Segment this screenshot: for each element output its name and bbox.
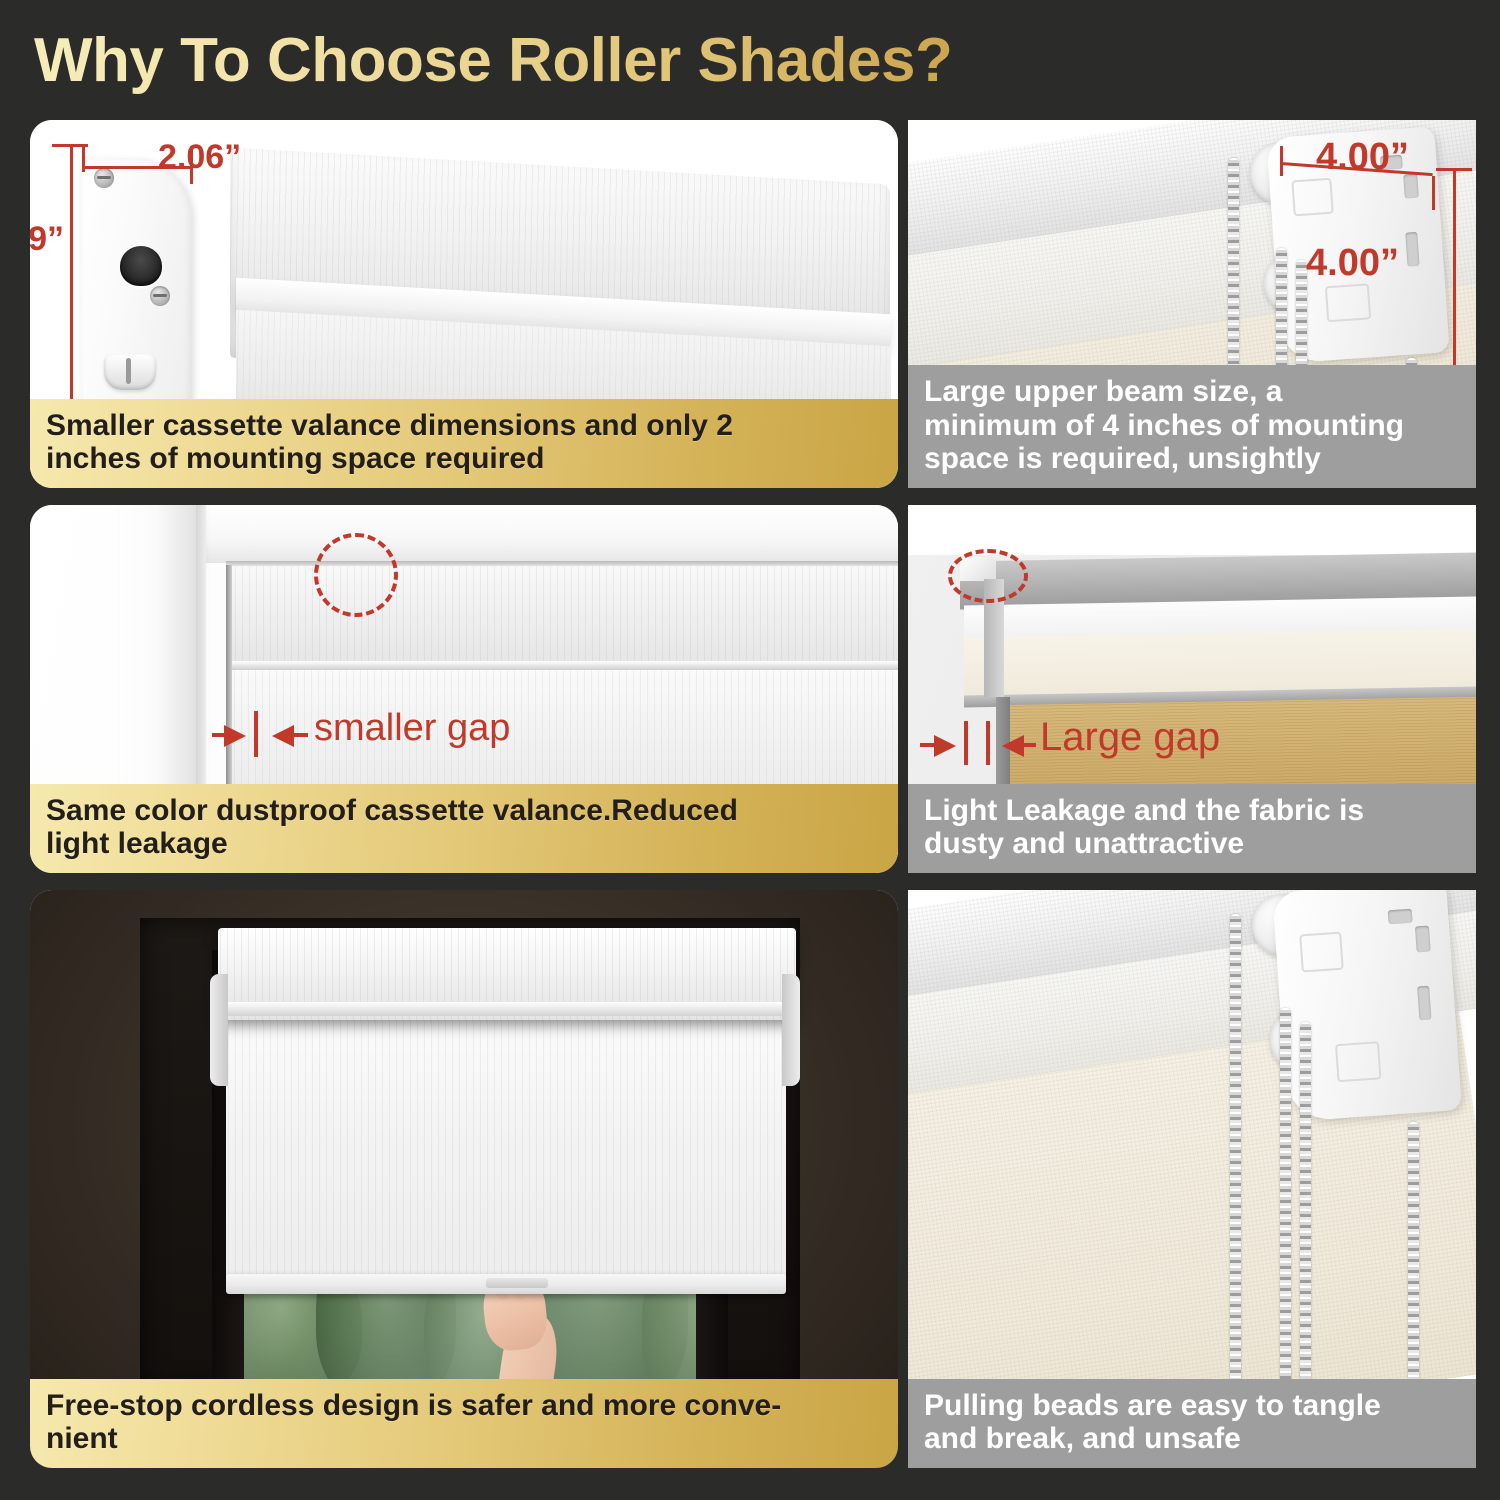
bracket-emboss [1291,178,1333,217]
dimension-label-width: 4.00” [1316,136,1409,179]
caption-line: light leakage [46,827,882,861]
roller-socket [120,246,162,286]
gap-label: Large gap [1040,715,1220,760]
caption-panel-large-upper-beam: Large upper beam size, a minimum of 4 in… [908,365,1476,488]
dimension-label-width: 2.06” [158,138,241,177]
jamb-edge-shadow [196,505,206,795]
caption-panel-cordless-design: Free-stop cordless design is safer and m… [30,1379,898,1468]
valance-end-cap [82,158,192,426]
bead-chain[interactable] [1280,1008,1291,1434]
caption-line: dusty and unattractive [924,827,1460,861]
screw-icon [150,286,170,306]
caption-panel-pulling-beads: Pulling beads are easy to tangle and bre… [908,1379,1476,1468]
gap-marker [254,711,258,757]
panel-cassette-dimensions: 2.06” 5.49” Smaller cassette valance dim… [30,120,898,488]
bracket-emboss [1335,1041,1382,1082]
gap-arrow-stem [292,733,308,737]
cassette-end-cap-left [210,974,228,1086]
dimension-label-height: 4.00” [1306,242,1399,285]
bead-chain[interactable] [1300,1022,1311,1434]
caption-line: Smaller cassette valance dimensions and … [46,409,882,443]
arrow-left-icon [1002,735,1024,757]
dim-tick [1436,168,1472,171]
infographic-page: Why To Choose Roller Shades? 2.06” 5.4 [0,0,1500,1500]
gap-label: smaller gap [314,707,510,750]
arrow-right-icon [224,725,246,747]
arrow-right-icon [934,735,956,757]
dim-line-height [70,144,73,438]
cassette-end-cap-right [782,974,800,1086]
bead-chain[interactable] [1230,914,1241,1434]
arrow-left-icon [272,725,294,747]
dimension-label-height: 5.49” [30,220,64,259]
page-title: Why To Choose Roller Shades? [34,22,1134,100]
dim-tick [1432,176,1435,210]
bracket-slot [1417,986,1431,1021]
gap-arrow-stem [1022,743,1036,747]
caption-line: Same color dustproof cassette valance.Re… [46,794,882,828]
caption-line: inches of mounting space required [46,442,882,476]
cassette-bottom-lip [226,661,898,670]
dim-line-height [1453,168,1456,376]
mounting-bracket [104,354,156,390]
caption-line: space is required, unsightly [924,442,1460,476]
gap-marker [986,721,990,765]
wall-upper [908,505,1476,555]
pull-tab[interactable] [486,1278,548,1288]
shade-left-edge [226,565,232,795]
bracket-emboss [1299,932,1344,973]
caption-panel-cassette-dimensions: Smaller cassette valance dimensions and … [30,399,898,488]
cassette-lip [218,1002,796,1016]
highlight-circle [948,549,1028,603]
dim-tick [52,144,88,147]
caption-line: Large upper beam size, a [924,375,1460,409]
caption-line: Pulling beads are easy to tangle [924,1389,1460,1423]
gap-marker [964,721,968,765]
caption-line: Free-stop cordless design is safer and m… [46,1389,882,1423]
panel-large-upper-beam: 4.00” 4.00” Large upper beam size, a min… [908,120,1476,488]
window-frame-jamb [120,505,202,795]
panel-smaller-gap: smaller gap Same color dustproof cassett… [30,505,898,873]
panel-pulling-beads: Pulling beads are easy to tangle and bre… [908,890,1476,1468]
bracket-slot [1415,925,1431,952]
caption-line: minimum of 4 inches of mounting [924,409,1460,443]
screw-icon [94,168,114,188]
roller-shade-fabric [226,1018,786,1280]
window-frame-head [120,505,898,563]
caption-line: Light Leakage and the fabric is [924,794,1460,828]
highlight-circle [314,533,398,617]
caption-line: and break, and unsafe [924,1422,1460,1456]
caption-panel-smaller-gap: Same color dustproof cassette valance.Re… [30,784,898,873]
caption-line: nient [46,1422,882,1456]
caption-panel-large-gap: Light Leakage and the fabric is dusty an… [908,784,1476,873]
bracket-slot [1405,232,1419,267]
panel-cordless-design: Free-stop cordless design is safer and m… [30,890,898,1468]
panel-large-gap: Large gap Light Leakage and the fabric i… [908,505,1476,873]
bracket-slot [1388,909,1413,925]
bracket-emboss [1325,283,1371,322]
